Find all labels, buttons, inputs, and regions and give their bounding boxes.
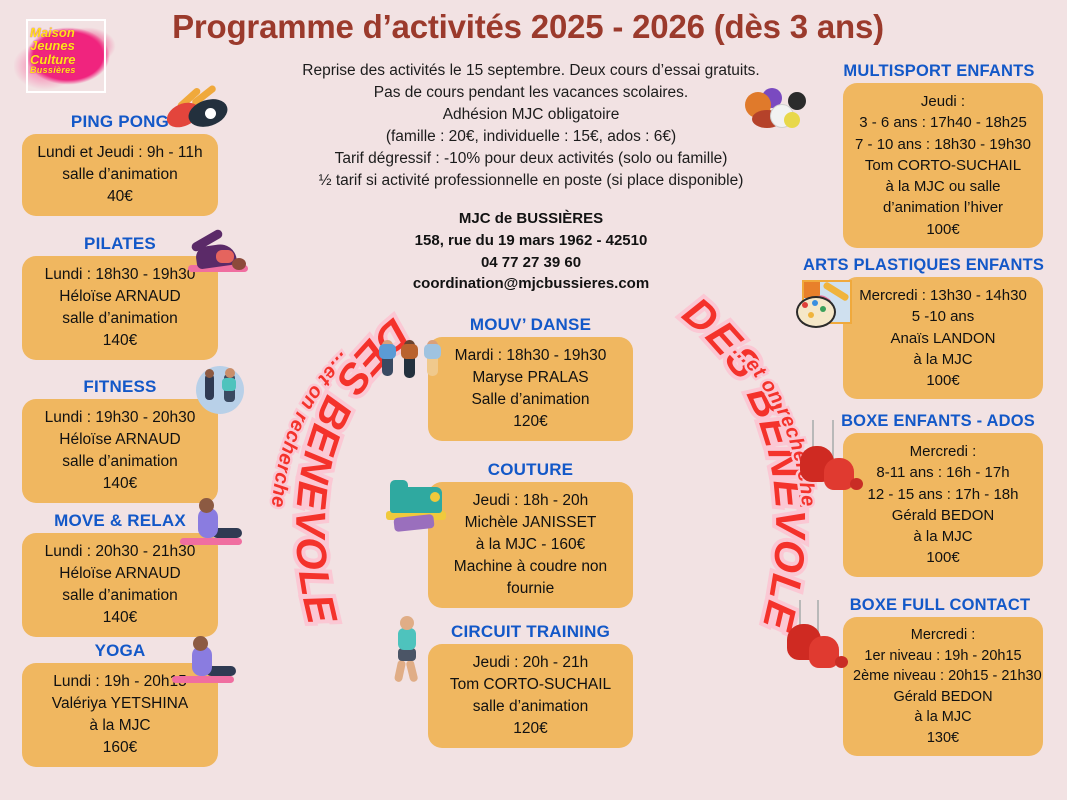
activity-title: MOUV’ DANSE bbox=[428, 315, 633, 335]
poster-root: Maison Jeunes Culture Bussières Programm… bbox=[0, 0, 1067, 800]
benevoles-banner-left: DES BENEVOLES! ...et on recherche bbox=[250, 295, 430, 655]
activity-card-multisport-enfants[interactable]: MULTISPORT ENFANTS Jeudi : 3 - 6 ans : 1… bbox=[843, 62, 1043, 248]
activity-card-circuit-training[interactable]: CIRCUIT TRAINING Jeudi : 20h - 21h Tom C… bbox=[428, 622, 633, 748]
activity-line: 8-11 ans : 16h - 17h bbox=[853, 462, 1033, 483]
activity-price: 100€ bbox=[853, 547, 1033, 568]
activity-line: Mardi : 18h30 - 19h30 bbox=[438, 345, 623, 367]
activity-line: Mercredi : 13h30 - 14h30 bbox=[853, 285, 1033, 306]
intro-line: ½ tarif si activité professionnelle en p… bbox=[255, 170, 807, 192]
activity-card-arts-plastiques-enfants[interactable]: ARTS PLASTIQUES ENFANTS Mercredi : 13h30… bbox=[843, 256, 1043, 399]
ping-pong-handle-icon bbox=[191, 84, 217, 107]
activity-price: 120€ bbox=[438, 718, 623, 740]
activity-line: Lundi et Jeudi : 9h - 11h bbox=[32, 142, 208, 164]
glove-lace-icon bbox=[812, 420, 814, 448]
activity-line: Gérald BEDON bbox=[853, 687, 1033, 708]
activity-price: 130€ bbox=[853, 728, 1033, 749]
intro-line: Tarif dégressif : -10% pour deux activit… bbox=[255, 148, 807, 170]
activity-card-move-and-relax[interactable]: MOVE & RELAX Lundi : 20h30 - 21h30 Héloï… bbox=[22, 511, 218, 637]
activity-title: PILATES bbox=[22, 234, 218, 254]
activity-line: à la MJC - 160€ bbox=[438, 534, 623, 556]
activity-line: Héloïse ARNAUD bbox=[32, 563, 208, 585]
activity-line: Mercredi : bbox=[853, 625, 1033, 646]
activity-card-ping-pong[interactable]: PING PONG Lundi et Jeudi : 9h - 11h sall… bbox=[22, 112, 218, 216]
activity-title: BOXE FULL CONTACT bbox=[837, 596, 1043, 615]
activity-line: à la MJC bbox=[853, 526, 1033, 547]
logo-text: Maison Jeunes Culture Bussières bbox=[30, 26, 104, 75]
contact-name: MJC de BUSSIÈRES bbox=[350, 208, 712, 230]
activity-line: 1er niveau : 19h - 20h15 bbox=[853, 646, 1033, 667]
fitness-person-b-head-icon bbox=[225, 368, 235, 378]
activity-line: salle d’animation bbox=[438, 696, 623, 718]
pilates-torso-icon bbox=[216, 250, 234, 263]
activity-line: fournie bbox=[438, 578, 623, 600]
activity-line: à la MJC bbox=[853, 349, 1033, 370]
activity-line: Lundi : 18h30 - 19h30 bbox=[32, 264, 208, 286]
activity-details: Lundi : 20h30 - 21h30 Héloïse ARNAUD sal… bbox=[22, 533, 218, 637]
activity-price: 100€ bbox=[853, 219, 1033, 240]
activity-line: Anaïs LANDON bbox=[853, 328, 1033, 349]
activity-title: CIRCUIT TRAINING bbox=[428, 622, 633, 642]
activity-line: salle d’animation bbox=[32, 308, 208, 330]
activity-title: PING PONG bbox=[22, 112, 218, 132]
contact-email[interactable]: coordination@mjcbussieres.com bbox=[350, 273, 712, 295]
activity-line: Gérald BEDON bbox=[853, 505, 1033, 526]
activity-details: Mercredi : 8-11 ans : 16h - 17h 12 - 15 … bbox=[843, 433, 1043, 577]
activity-title: MOVE & RELAX bbox=[22, 511, 218, 531]
activity-title: YOGA bbox=[22, 641, 218, 661]
activity-line: à la MJC ou salle bbox=[853, 176, 1033, 197]
contact-phone[interactable]: 04 77 27 39 60 bbox=[350, 252, 712, 274]
activity-line: Jeudi : 20h - 21h bbox=[438, 652, 623, 674]
intro-line: Pas de cours pendant les vacances scolai… bbox=[255, 82, 807, 104]
activity-line: 3 - 6 ans : 17h40 - 18h25 bbox=[853, 112, 1033, 133]
activity-line: salle d’animation bbox=[32, 451, 208, 473]
activity-title: FITNESS bbox=[22, 377, 218, 397]
fitness-shirt-icon bbox=[222, 378, 236, 391]
activity-line: d’animation l’hiver bbox=[853, 197, 1033, 218]
activity-details: Mardi : 18h30 - 19h30 Maryse PRALAS Sall… bbox=[428, 337, 633, 441]
activity-line: Mercredi : bbox=[853, 441, 1033, 462]
activity-details: Lundi : 19h - 20h15 Valériya YETSHINA à … bbox=[22, 663, 218, 767]
activity-line: 2ème niveau : 20h15 - 21h30 bbox=[853, 666, 1033, 687]
activity-line: salle d’animation bbox=[32, 585, 208, 607]
glove-lace-icon bbox=[799, 600, 801, 626]
activity-card-mouv-danse[interactable]: MOUV’ DANSE Mardi : 18h30 - 19h30 Maryse… bbox=[428, 315, 633, 441]
activity-card-boxe-full-contact[interactable]: BOXE FULL CONTACT Mercredi : 1er niveau … bbox=[843, 596, 1043, 756]
glove-thumb-icon bbox=[835, 656, 848, 668]
contact-block: MJC de BUSSIÈRES 158, rue du 19 mars 196… bbox=[350, 208, 712, 295]
activity-line: 12 - 15 ans : 17h - 18h bbox=[853, 484, 1033, 505]
activity-card-couture[interactable]: COUTURE Jeudi : 18h - 20h Michèle JANISS… bbox=[428, 460, 633, 608]
activity-line: Jeudi : bbox=[853, 91, 1033, 112]
activity-details: Mercredi : 13h30 - 14h30 5 -10 ans Anaïs… bbox=[843, 277, 1043, 399]
page-title: Programme d’activités 2025 - 2026 (dès 3… bbox=[118, 8, 938, 46]
activity-line: Héloïse ARNAUD bbox=[32, 429, 208, 451]
activity-line: à la MJC bbox=[853, 707, 1033, 728]
activity-card-pilates[interactable]: PILATES Lundi : 18h30 - 19h30 Héloïse AR… bbox=[22, 234, 218, 360]
activity-details: Jeudi : 20h - 21h Tom CORTO-SUCHAIL sall… bbox=[428, 644, 633, 748]
intro-line: Reprise des activités le 15 septembre. D… bbox=[255, 60, 807, 82]
activity-price: 40€ bbox=[32, 186, 208, 208]
activity-details: Lundi : 19h30 - 20h30 Héloïse ARNAUD sal… bbox=[22, 399, 218, 503]
activity-line: Jeudi : 18h - 20h bbox=[438, 490, 623, 512]
activity-card-fitness[interactable]: FITNESS Lundi : 19h30 - 20h30 Héloïse AR… bbox=[22, 377, 218, 503]
activity-line: Valériya YETSHINA bbox=[32, 693, 208, 715]
runner-leg-a-icon bbox=[394, 659, 406, 682]
activity-line: 5 -10 ans bbox=[853, 306, 1033, 327]
glove-thumb-icon bbox=[850, 478, 863, 490]
activity-price: 100€ bbox=[853, 370, 1033, 391]
activity-line: Lundi : 19h30 - 20h30 bbox=[32, 407, 208, 429]
logo-line-1: Maison bbox=[30, 26, 104, 39]
benevoles-big-text-left: DES BENEVOLES! bbox=[235, 257, 418, 629]
activity-price: 160€ bbox=[32, 737, 208, 759]
activity-details: Jeudi : 3 - 6 ans : 17h40 - 18h25 7 - 10… bbox=[843, 83, 1043, 248]
activity-title: MULTISPORT ENFANTS bbox=[835, 62, 1043, 81]
runner-leg-b-icon bbox=[405, 659, 418, 682]
logo-line-2: Jeunes bbox=[30, 39, 104, 52]
activity-price: 140€ bbox=[32, 607, 208, 629]
activity-price: 140€ bbox=[32, 330, 208, 352]
logo-line-4: Bussières bbox=[30, 66, 104, 75]
activity-line: 7 - 10 ans : 18h30 - 19h30 bbox=[853, 134, 1033, 155]
activity-price: 140€ bbox=[32, 473, 208, 495]
activity-card-yoga[interactable]: YOGA Lundi : 19h - 20h15 Valériya YETSHI… bbox=[22, 641, 218, 767]
activity-line: Michèle JANISSET bbox=[438, 512, 623, 534]
activity-title: COUTURE bbox=[428, 460, 633, 480]
pilates-head-icon bbox=[232, 258, 246, 270]
activity-line: Machine à coudre non bbox=[438, 556, 623, 578]
activity-price: 120€ bbox=[438, 411, 623, 433]
activity-details: Lundi et Jeudi : 9h - 11h salle d’animat… bbox=[22, 134, 218, 216]
boxing-gloves-icon bbox=[785, 600, 855, 680]
activity-details: Lundi : 18h30 - 19h30 Héloïse ARNAUD sal… bbox=[22, 256, 218, 360]
activity-details: Mercredi : 1er niveau : 19h - 20h15 2ème… bbox=[843, 617, 1043, 756]
activity-line: à la MJC bbox=[32, 715, 208, 737]
activity-line: Héloïse ARNAUD bbox=[32, 286, 208, 308]
activity-line: salle d’animation bbox=[32, 164, 208, 186]
intro-line: Adhésion MJC obligatoire bbox=[255, 104, 807, 126]
activity-line: Salle d’animation bbox=[438, 389, 623, 411]
logo-line-3: Culture bbox=[30, 53, 104, 66]
activity-details: Jeudi : 18h - 20h Michèle JANISSET à la … bbox=[428, 482, 633, 608]
activity-line: Maryse PRALAS bbox=[438, 367, 623, 389]
activity-title: ARTS PLASTIQUES ENFANTS bbox=[803, 256, 1043, 275]
fitness-person-b-icon bbox=[224, 374, 235, 402]
activity-line: Lundi : 20h30 - 21h30 bbox=[32, 541, 208, 563]
intro-line: (famille : 20€, individuelle : 15€, ados… bbox=[255, 126, 807, 148]
ping-pong-paddles-icon bbox=[176, 87, 201, 111]
boxing-gloves-icon bbox=[798, 420, 868, 500]
activity-card-boxe-enfants-ados[interactable]: BOXE ENFANTS - ADOS Mercredi : 8-11 ans … bbox=[843, 412, 1043, 577]
mjc-logo: Maison Jeunes Culture Bussières bbox=[12, 10, 120, 102]
activity-line: Lundi : 19h - 20h15 bbox=[32, 671, 208, 693]
intro-text: Reprise des activités le 15 septembre. D… bbox=[255, 60, 807, 192]
activity-line: Tom CORTO-SUCHAIL bbox=[853, 155, 1033, 176]
contact-address: 158, rue du 19 mars 1962 - 42510 bbox=[350, 230, 712, 252]
activity-line: Tom CORTO-SUCHAIL bbox=[438, 674, 623, 696]
